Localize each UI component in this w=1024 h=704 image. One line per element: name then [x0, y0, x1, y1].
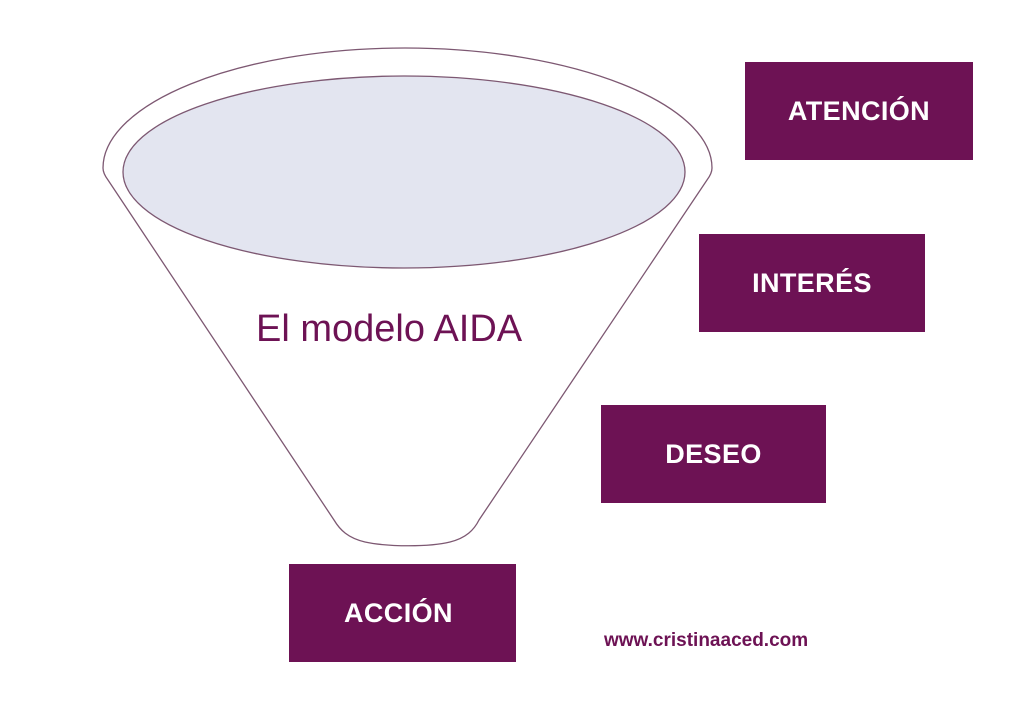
stage-label-accion: ACCIÓN — [344, 598, 453, 629]
aida-funnel-diagram: El modelo AIDA ATENCIÓN INTERÉS DESEO AC… — [0, 0, 1024, 704]
funnel-opening-ellipse — [123, 76, 685, 268]
funnel-title: El modelo AIDA — [256, 308, 522, 351]
website-url[interactable]: www.cristinaaced.com — [604, 630, 808, 652]
stage-label-deseo: DESEO — [665, 439, 762, 470]
stage-label-atencion: ATENCIÓN — [788, 96, 930, 127]
stage-box-interes[interactable]: INTERÉS — [699, 234, 925, 332]
stage-box-accion[interactable]: ACCIÓN — [289, 564, 516, 662]
stage-box-deseo[interactable]: DESEO — [601, 405, 826, 503]
stage-label-interes: INTERÉS — [752, 268, 872, 299]
stage-box-atencion[interactable]: ATENCIÓN — [745, 62, 973, 160]
